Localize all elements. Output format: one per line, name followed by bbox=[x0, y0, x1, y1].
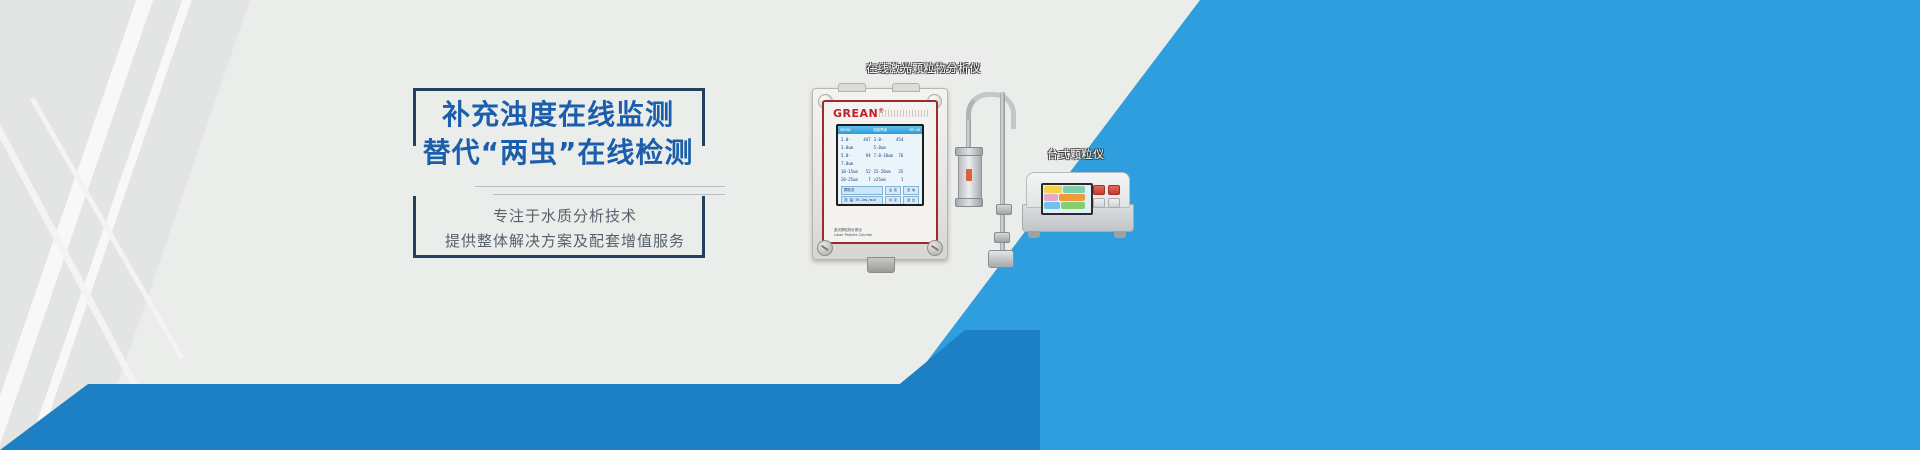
lcd-cell-value: 94 bbox=[861, 152, 873, 168]
tube-fitting bbox=[996, 204, 1012, 215]
lcd-title-center: 测量界面 bbox=[873, 128, 887, 133]
analyzer-screw bbox=[817, 240, 833, 256]
analyzer-brand-logo: GREAN® bbox=[833, 107, 885, 120]
lcd-button-settings[interactable]: 设 置 bbox=[885, 186, 901, 195]
benchtop-foot bbox=[1114, 231, 1126, 238]
analyzer-screw bbox=[927, 240, 943, 256]
analyzer-mount-tab bbox=[838, 83, 866, 92]
benchtop-foot bbox=[1028, 231, 1040, 238]
divider-line bbox=[475, 186, 725, 187]
lcd-cell-range: 2.0-3.0um bbox=[841, 136, 861, 152]
screen-tile bbox=[1044, 194, 1058, 201]
panel-border-right-bottom bbox=[702, 196, 705, 258]
analyzer-vent-hatching bbox=[879, 110, 928, 117]
subtitle-group: 专注于水质分析技术 提供整体解决方案及配套增值服务 bbox=[433, 204, 697, 254]
lcd-cell-range: 20-25um bbox=[841, 176, 861, 184]
brand-text: GREAN bbox=[833, 107, 878, 120]
lcd-cell-value: 52 bbox=[861, 168, 873, 176]
promo-banner: 补充浊度在线监测 替代“两虫”在线检测 专注于水质分析技术 提供整体解决方案及配… bbox=[0, 0, 1920, 450]
analyzer-nameplate: 激光颗粒物计数仪 Laser Particle Counter bbox=[834, 228, 873, 238]
sensor-indicator bbox=[966, 169, 972, 181]
sensor-housing bbox=[958, 154, 982, 200]
screen-tile bbox=[1061, 202, 1085, 209]
lcd-cell-value: 454 bbox=[894, 136, 906, 152]
benchtop-key[interactable] bbox=[1093, 198, 1105, 208]
lcd-footer-row: 颗粒总数:1166CNT/mL 设 置 查 询 bbox=[841, 186, 919, 195]
lcd-clock: 09:46 bbox=[909, 128, 920, 132]
lcd-total-count-field: 颗粒总数:1166CNT/mL bbox=[841, 186, 883, 195]
divider-line bbox=[493, 194, 725, 195]
lcd-cell-value: 447 bbox=[861, 136, 873, 152]
lcd-button-exit[interactable]: 退 出 bbox=[903, 196, 919, 204]
screen-tile bbox=[1063, 186, 1085, 193]
lcd-row: 5.0-7.0um 94 7.0-10um 76 bbox=[841, 152, 919, 168]
lcd-cell-range: 10-15um bbox=[841, 168, 861, 176]
sensor-cap-top bbox=[955, 147, 983, 156]
benchtop-keypad[interactable] bbox=[1093, 185, 1119, 208]
lcd-content: GREAN 测量界面 09:46 2.0-3.0um 447 3.0-5.0um… bbox=[838, 126, 922, 204]
tube-right-riser bbox=[1000, 92, 1005, 212]
analyzer-lcd-screen[interactable]: GREAN 测量界面 09:46 2.0-3.0um 447 3.0-5.0um… bbox=[836, 124, 924, 206]
background-blue-strip bbox=[0, 384, 920, 450]
analyzer-base-port bbox=[867, 257, 895, 273]
panel-border-bottom bbox=[413, 255, 705, 258]
subtitle-line-1: 专注于水质分析技术 bbox=[433, 204, 697, 229]
lcd-row: 2.0-3.0um 447 3.0-5.0um 454 bbox=[841, 136, 919, 152]
benchtop-screen[interactable] bbox=[1041, 183, 1093, 215]
lcd-title-left: GREAN bbox=[840, 128, 851, 132]
lcd-cell-range: 5.0-7.0um bbox=[841, 152, 861, 168]
divider-group bbox=[475, 186, 725, 195]
lcd-cell-value: 1 bbox=[894, 176, 906, 184]
panel-border-top bbox=[413, 88, 705, 91]
headline-panel: 补充浊度在线监测 替代“两虫”在线检测 专注于水质分析技术 提供整体解决方案及配… bbox=[413, 88, 705, 258]
lcd-cell-range: >25um bbox=[874, 176, 894, 184]
subtitle-line-2: 提供整体解决方案及配套增值服务 bbox=[433, 229, 697, 254]
tube-valve bbox=[988, 250, 1014, 268]
benchtop-key[interactable] bbox=[1093, 185, 1105, 195]
lcd-title-bar: GREAN 测量界面 09:46 bbox=[838, 126, 922, 134]
lcd-footer-row: 流 量:78.2mL/min 标 定 退 出 bbox=[841, 196, 919, 204]
benchtop-key[interactable] bbox=[1108, 185, 1120, 195]
analyzer-front-panel: GREAN® GREAN 测量界面 09:46 2.0-3.0um 447 3.… bbox=[822, 100, 938, 244]
headline: 补充浊度在线监测 替代“两虫”在线检测 bbox=[393, 96, 723, 172]
online-laser-particle-analyzer: GREAN® GREAN 测量界面 09:46 2.0-3.0um 447 3.… bbox=[812, 88, 948, 260]
lcd-cell-range: 3.0-5.0um bbox=[874, 136, 894, 152]
lcd-cell-value: 35 bbox=[894, 168, 906, 176]
headline-line-2: 替代“两虫”在线检测 bbox=[393, 134, 723, 172]
tube-bend bbox=[966, 92, 1016, 129]
headline-line-1: 补充浊度在线监测 bbox=[393, 96, 723, 134]
lcd-row: 10-15um 52 15-20um 35 bbox=[841, 168, 919, 176]
lcd-cell-range: 15-20um bbox=[874, 168, 894, 176]
nameplate-en: Laser Particle Counter bbox=[834, 233, 873, 238]
panel-border-left-bottom bbox=[413, 196, 416, 258]
lcd-row: 20-25um 7 >25um 1 bbox=[841, 176, 919, 184]
lcd-measurement-table: 2.0-3.0um 447 3.0-5.0um 454 5.0-7.0um 94… bbox=[838, 134, 922, 184]
analyzer-mount-tab bbox=[892, 83, 920, 92]
lcd-cell-range: 7.0-10um bbox=[874, 152, 894, 168]
benchtop-particle-counter bbox=[1022, 172, 1132, 242]
tube-fitting bbox=[994, 232, 1010, 243]
lcd-cell-value: 76 bbox=[894, 152, 906, 168]
lcd-flow-field: 流 量:78.2mL/min bbox=[841, 196, 883, 204]
product-label-benchtop: 台式颗粒仪 bbox=[1047, 146, 1105, 162]
inline-sensor-assembly bbox=[960, 92, 1014, 268]
screen-tile bbox=[1044, 186, 1062, 193]
product-label-online-analyzer: 在线激光颗粒物分析仪 bbox=[866, 60, 981, 76]
lcd-button-query[interactable]: 查 询 bbox=[903, 186, 919, 195]
screen-tile bbox=[1059, 194, 1085, 201]
benchtop-console bbox=[1026, 172, 1130, 208]
lcd-cell-value: 7 bbox=[861, 176, 873, 184]
sensor-cap-bottom bbox=[955, 198, 983, 207]
screen-tile bbox=[1044, 202, 1060, 209]
lcd-button-calibrate[interactable]: 标 定 bbox=[885, 196, 901, 204]
benchtop-screen-content bbox=[1043, 185, 1091, 213]
benchtop-key[interactable] bbox=[1108, 198, 1120, 208]
lcd-footer: 颗粒总数:1166CNT/mL 设 置 查 询 流 量:78.2mL/min 标… bbox=[838, 184, 922, 204]
